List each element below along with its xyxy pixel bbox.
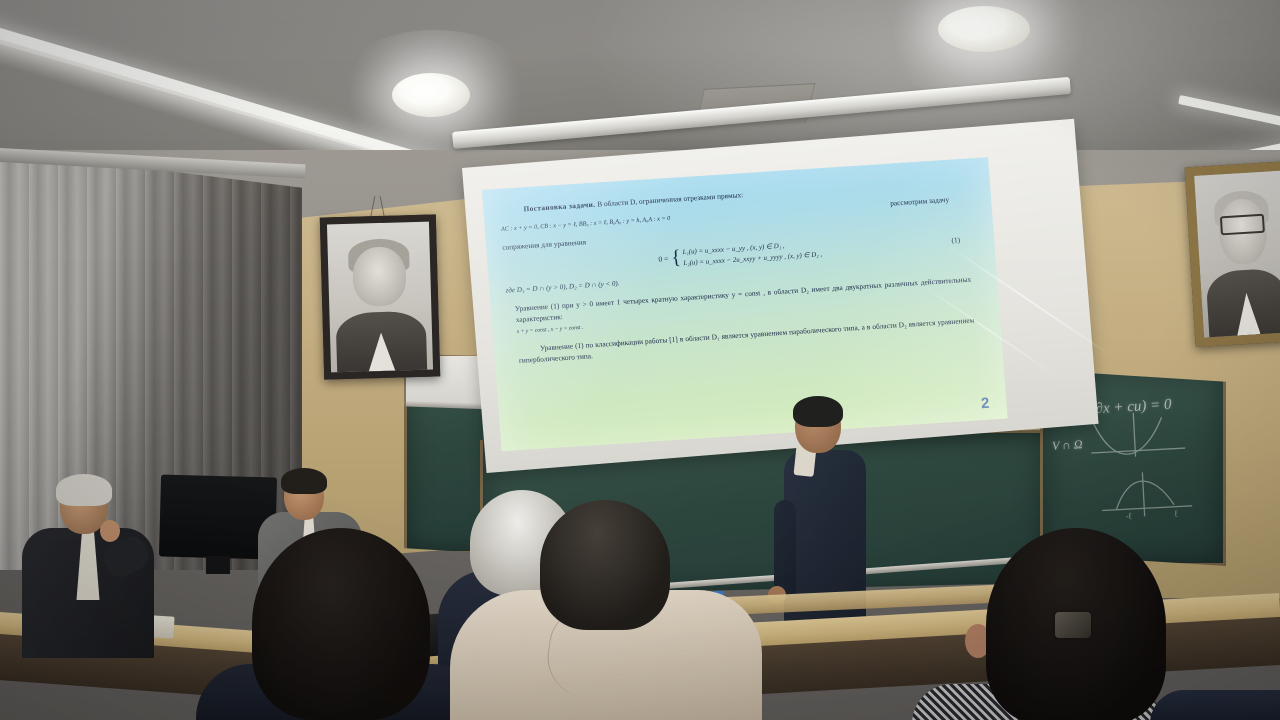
equation-lead: 0 = — [658, 254, 669, 264]
beige-jacket-head — [540, 500, 670, 630]
slide-content: Постановка задачи. В области D, ограниче… — [482, 157, 1008, 451]
elderly-man-hand — [100, 520, 120, 542]
presenter-hair — [793, 396, 843, 427]
presenter-arm — [774, 500, 796, 600]
equation-brace-icon: { — [671, 251, 682, 266]
monitor-stand — [206, 556, 230, 574]
chalkboard-graph-sketch: -ℓ ℓ — [1087, 407, 1211, 523]
portrait-image-left — [327, 222, 433, 373]
framed-portrait-left — [320, 214, 440, 379]
svg-text:-ℓ: -ℓ — [1125, 511, 1133, 521]
equation-number: (1) — [951, 235, 960, 245]
portrait-glasses-icon — [1220, 214, 1265, 235]
ceiling-lamp-left — [392, 73, 470, 117]
ceiling-lamp-right — [938, 6, 1030, 52]
presentation-slide: Постановка задачи. В области D, ограниче… — [482, 157, 1008, 451]
slide-heading-lead: Постановка задачи. — [523, 200, 596, 214]
elderly-man-hair — [56, 474, 112, 506]
framed-portrait-right — [1185, 161, 1280, 347]
svg-text:ℓ: ℓ — [1174, 509, 1179, 519]
hair-clip — [1055, 612, 1091, 638]
slide-heading-tail: рассмотрим задачу — [890, 193, 974, 210]
woman-left-hair — [252, 528, 430, 720]
lecture-room-photo: L₁(∂u/∂x + cu) = 0 V ∩ Ω -ℓ ℓ — [0, 0, 1280, 720]
grey-suit-hair — [281, 468, 327, 494]
portrait-image-right — [1194, 170, 1280, 337]
portrait-face — [352, 246, 407, 307]
equation-lines: L₁(u) = u_xxxx − u_yy , (x, y) ∈ D₁ , L₂… — [682, 239, 822, 266]
slide-heading-rest: В области D, ограниченная отрезками прям… — [595, 190, 743, 209]
slide-page-number: 2 — [980, 395, 990, 412]
